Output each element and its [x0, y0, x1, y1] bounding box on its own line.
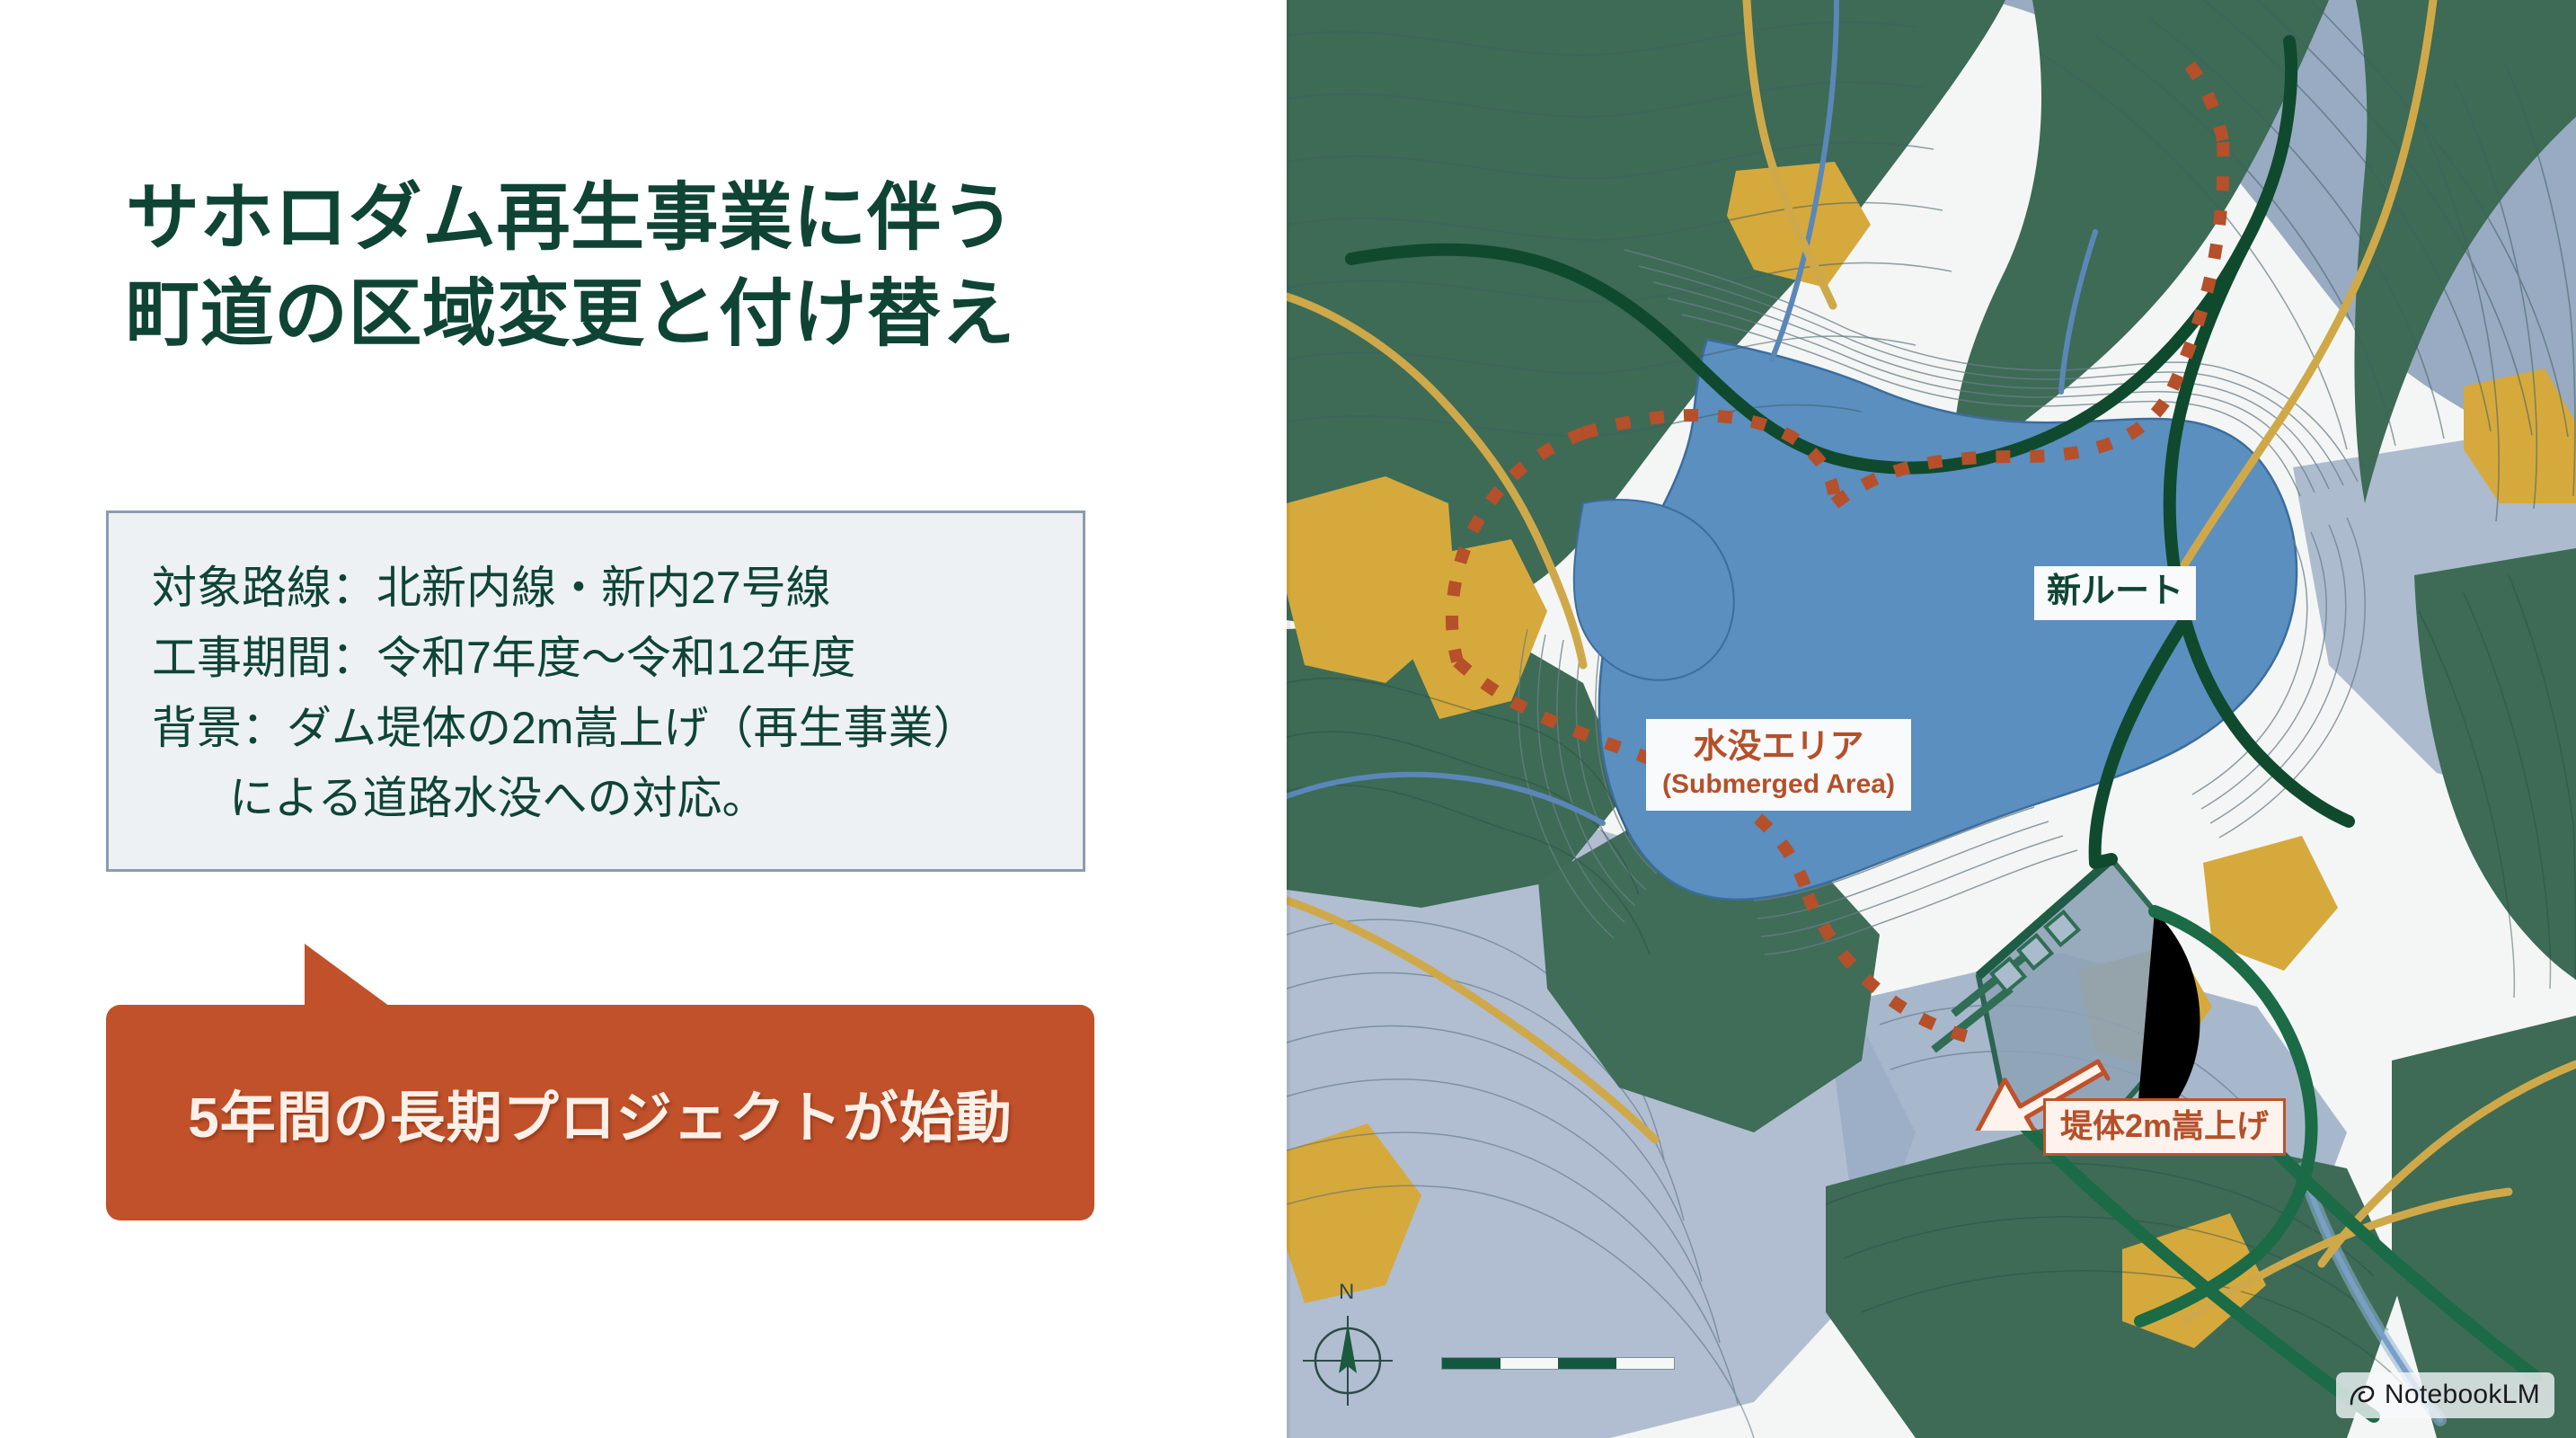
info-line-target-routes: 対象路線：北新内線・新内27号線 — [152, 553, 1047, 623]
scale-seg-3 — [1558, 1358, 1616, 1369]
title-line-2: 町道の区域変更と付け替え — [126, 273, 1015, 355]
info-line-construction-period: 工事期間：令和7年度〜令和12年度 — [152, 623, 1047, 693]
project-info-box: 対象路線：北新内線・新内27号線 工事期間：令和7年度〜令和12年度 背景：ダム… — [106, 510, 1085, 872]
map-label-dam-raise: 堤体2m嵩上げ — [2043, 1098, 2286, 1156]
topographic-map-graphic — [1287, 0, 2576, 1438]
compass-north-letter: N — [1339, 1280, 1354, 1305]
compass-rose-icon: N — [1296, 1283, 1403, 1409]
info-line-background-cont: による道路水没への対応。 — [152, 763, 1047, 833]
callout-label: 5年間の長期プロジェクトが始動 — [188, 1072, 1012, 1153]
title-line-1: サホロダム再生事業に伴う — [126, 177, 1015, 259]
notebooklm-watermark: NotebookLM — [2336, 1372, 2554, 1418]
map-label-submerged-area: 水没エリア (Submerged Area) — [1646, 719, 1911, 811]
scale-seg-2 — [1500, 1358, 1559, 1369]
scale-seg-1 — [1442, 1358, 1500, 1369]
page-title: サホロダム再生事業に伴う 町道の区域変更と付け替え — [126, 171, 1186, 362]
left-text-panel: サホロダム再生事業に伴う 町道の区域変更と付け替え 対象路線：北新内線・新内27… — [0, 0, 1287, 1438]
notebooklm-logo-icon — [2347, 1380, 2376, 1409]
scale-seg-4 — [1616, 1358, 1675, 1369]
map-label-new-route: 新ルート — [2034, 566, 2196, 620]
project-callout: 5年間の長期プロジェクトが始動 — [106, 944, 1094, 1231]
callout-banner: 5年間の長期プロジェクトが始動 — [106, 1005, 1094, 1221]
map-panel: サホロ湖 新ルート 水没エリア (Submerged Area) 堤体2m嵩上げ… — [1287, 0, 2576, 1438]
map-scale-bar — [1441, 1357, 1675, 1370]
watermark-label: NotebookLM — [2385, 1380, 2540, 1410]
info-line-background: 背景：ダム堤体の2m嵩上げ（再生事業） — [152, 693, 1047, 763]
slide-root: サホロダム再生事業に伴う 町道の区域変更と付け替え 対象路線：北新内線・新内27… — [0, 0, 2576, 1438]
map-label-submerged-en: (Submerged Area) — [1662, 769, 1895, 801]
map-label-submerged-jp: 水没エリア — [1662, 728, 1895, 768]
